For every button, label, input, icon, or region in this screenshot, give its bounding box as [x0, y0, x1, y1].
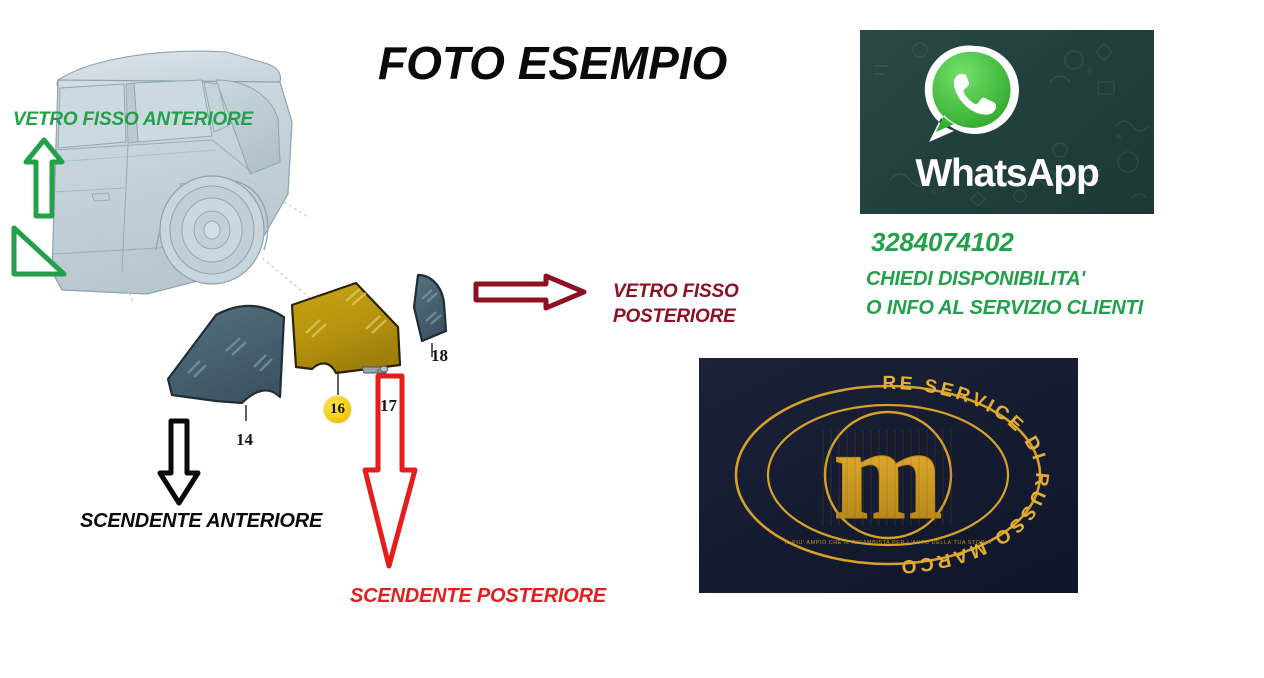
arrow-right-darkred-icon — [472, 272, 588, 317]
label-line-2: POSTERIORE — [613, 304, 739, 329]
label-vetro-fisso-posteriore: VETRO FISSO POSTERIORE — [613, 279, 739, 329]
part-number-14: 14 — [236, 430, 253, 450]
label-line-1: VETRO FISSO — [613, 279, 739, 304]
whatsapp-banner: WhatsApp — [860, 30, 1154, 214]
part-number-17: 17 — [380, 396, 397, 416]
part-18-shape — [414, 275, 446, 357]
label-vetro-fisso-anteriore: VETRO FISSO ANTERIORE — [13, 109, 253, 131]
logo-monogram: m — [833, 400, 943, 547]
part-14-shape — [168, 306, 284, 421]
phone-number[interactable]: 3284074102 — [871, 227, 1014, 258]
page-title: FOTO ESEMPIO — [378, 36, 727, 90]
shop-logo-banner: MRICAMBISTORE SERVICE DI RUSSO MARCO m I… — [699, 358, 1078, 593]
arrow-up-green-icon — [22, 136, 66, 225]
logo-tagline: IL PIU' AMPIO CHE IL RICAMBISTA PER L'AU… — [785, 540, 992, 546]
label-scendente-posteriore: SCENDENTE POSTERIORE — [350, 585, 606, 608]
whatsapp-wordmark: WhatsApp — [860, 152, 1154, 196]
contact-line-1: CHIEDI DISPONIBILITA' — [866, 268, 1085, 291]
triangle-green-icon — [8, 222, 70, 287]
label-scendente-anteriore: SCENDENTE ANTERIORE — [80, 510, 322, 533]
poster-canvas: FOTO ESEMPIO VETRO FISSO ANTERIORE VETRO… — [0, 0, 1264, 678]
part-number-16-badge: 16 — [324, 396, 351, 423]
contact-line-2: O INFO AL SERVIZIO CLIENTI — [866, 297, 1143, 320]
whatsapp-phone-bubble-icon — [923, 42, 1027, 146]
part-number-18: 18 — [431, 346, 448, 366]
arrow-down-black-icon — [156, 417, 202, 512]
